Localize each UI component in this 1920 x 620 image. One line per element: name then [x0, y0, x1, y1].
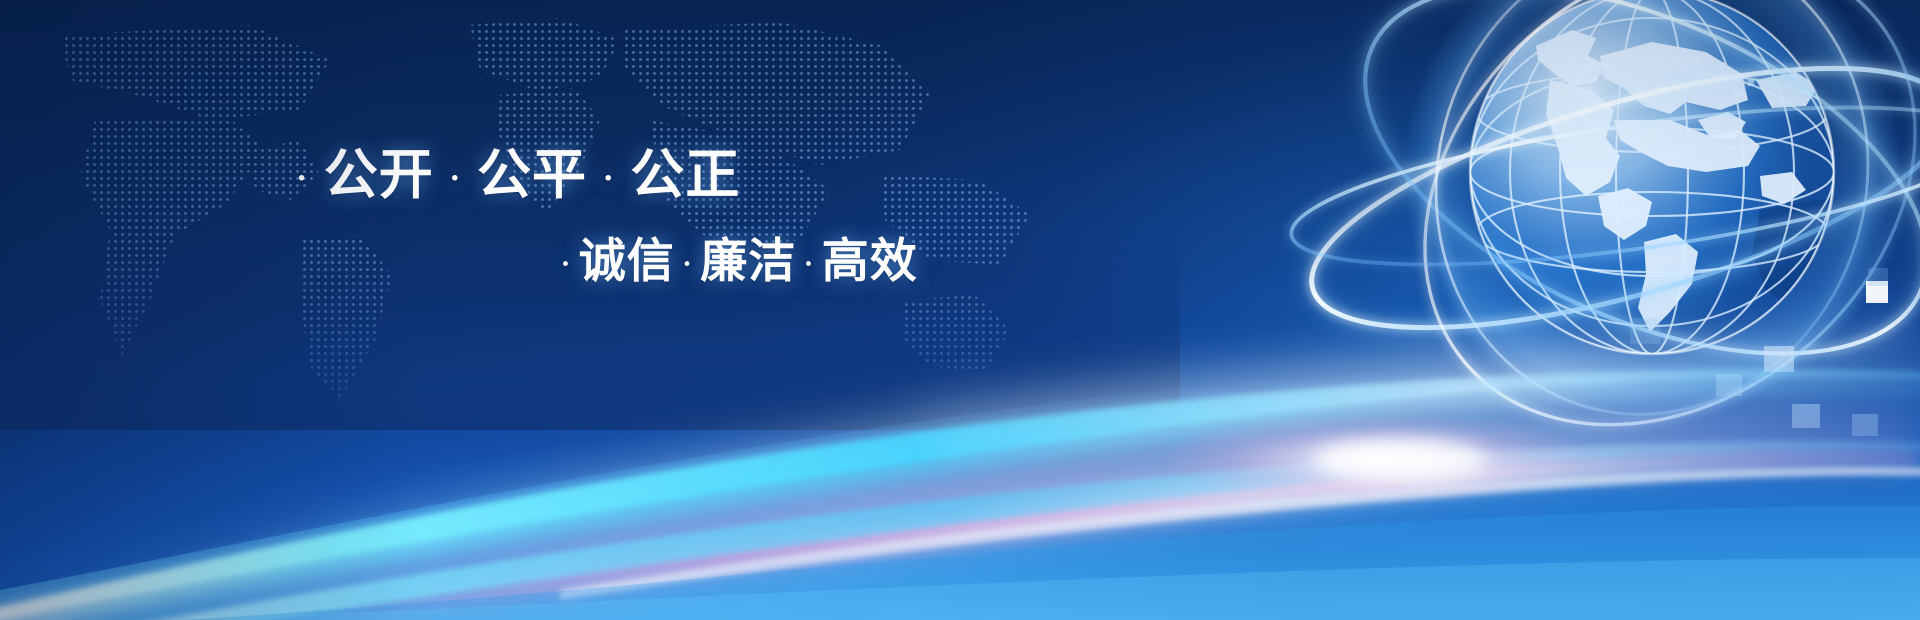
decorative-square	[1868, 268, 1888, 286]
wave-hotspot-core	[1314, 440, 1486, 480]
promo-banner: ·公开·公平·公正 ·诚信·廉洁·高效	[0, 0, 1920, 620]
light-wave-streaks	[0, 290, 1920, 620]
